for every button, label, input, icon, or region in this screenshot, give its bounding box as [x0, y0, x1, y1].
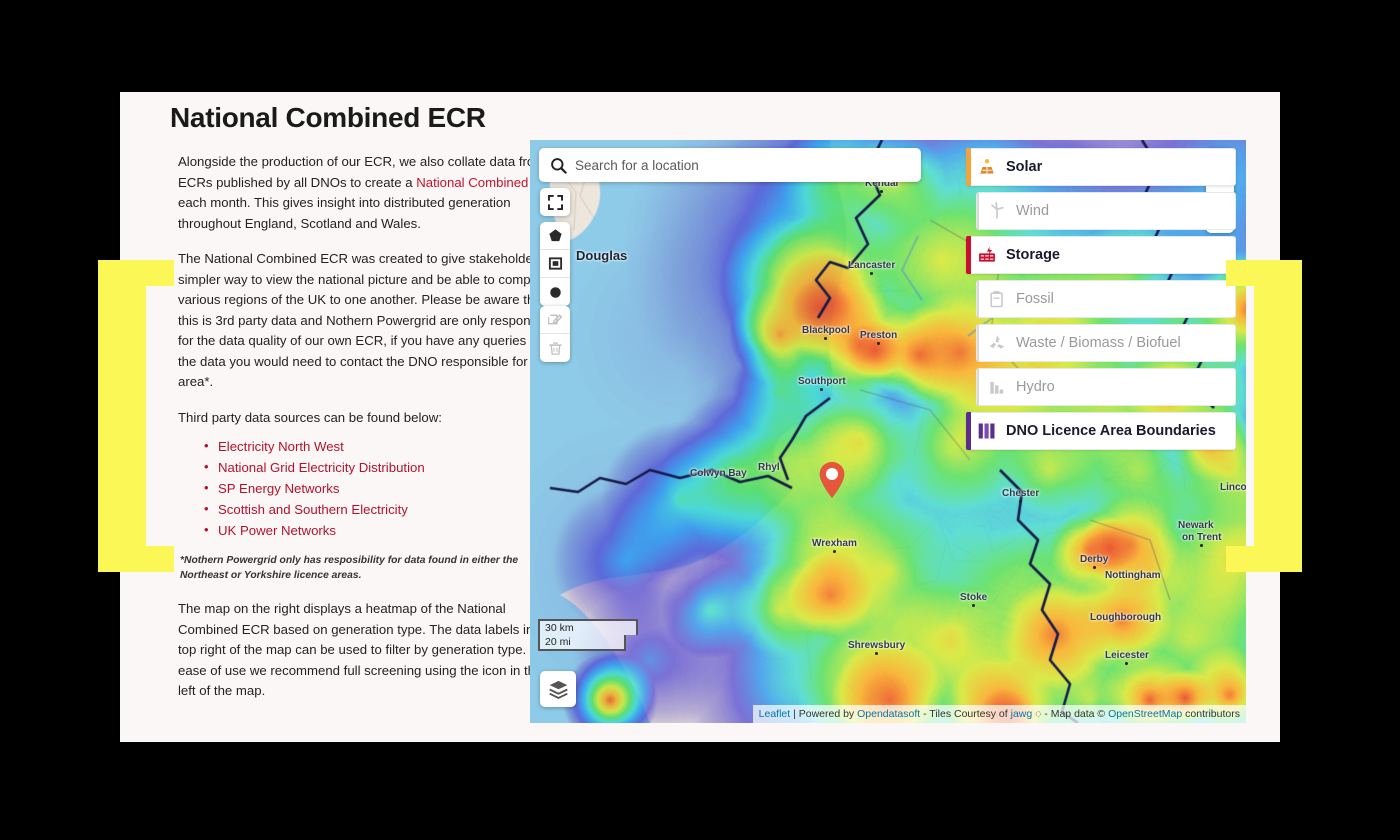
delete-shapes-button[interactable] — [540, 334, 570, 362]
footnote: *Nothern Powergrid only has resposibilit… — [180, 553, 568, 583]
legend-item-color-bar — [966, 412, 971, 450]
boundaries-icon — [977, 421, 997, 441]
hydro-icon — [987, 377, 1007, 397]
legend-item-color-bar — [966, 148, 971, 186]
wind-turbine-icon — [987, 201, 1007, 221]
edit-tools-control[interactable] — [540, 306, 570, 362]
legend-item-label: Fossil — [1016, 291, 1054, 307]
scale-imperial: 20 mi — [538, 635, 626, 651]
attribution-leaflet-link[interactable]: Leaflet — [759, 708, 791, 720]
draw-rectangle-icon — [548, 256, 563, 271]
legend-item-color-bar — [977, 324, 979, 362]
fullscreen-icon — [548, 195, 563, 210]
article-column: National Combined ECR Alongside the prod… — [168, 102, 568, 717]
legend-item-label: Solar — [1006, 159, 1042, 175]
legend-item-fossil[interactable]: Fossil — [976, 280, 1236, 318]
page-title: National Combined ECR — [170, 102, 568, 134]
delete-shapes-icon — [548, 341, 563, 356]
source-link-scottish-and-southern-electricity[interactable]: Scottish and Southern Electricity — [204, 500, 568, 520]
fullscreen-button[interactable] — [540, 188, 570, 216]
content-card: National Combined ECR Alongside the prod… — [120, 92, 1280, 742]
legend-item-hydro[interactable]: Hydro — [976, 368, 1236, 406]
attribution-openstreetmap-link[interactable]: OpenStreetMap — [1108, 708, 1182, 720]
layers-button[interactable] — [540, 671, 576, 707]
scale-metric: 30 km — [538, 619, 638, 635]
left-bracket-top-arm — [98, 260, 174, 286]
attribution-mapdata-text: - Map data © — [1041, 708, 1108, 720]
wind-turbine-icon — [987, 201, 1007, 221]
map-attribution: Leaflet | Powered by Opendatasoft - Tile… — [753, 705, 1246, 723]
attribution-opendatasoft-link[interactable]: Opendatasoft — [857, 708, 920, 720]
search-input[interactable] — [575, 158, 911, 173]
paragraph-1: Alongside the production of our ECR, we … — [178, 152, 568, 234]
draw-circle-button[interactable] — [540, 278, 570, 306]
draw-polygon-icon — [548, 228, 563, 243]
draw-circle-icon — [548, 285, 563, 300]
legend-item-label: Waste / Biomass / Biofuel — [1016, 335, 1181, 351]
legend-item-storage[interactable]: Storage — [966, 236, 1236, 274]
heatmap-map[interactable]: DouglasKendalLancasterBlackpoolPrestonSo… — [530, 140, 1246, 723]
fullscreen-control[interactable] — [540, 188, 570, 216]
article-body: Alongside the production of our ECR, we … — [168, 152, 568, 702]
paragraph-4: The map on the right displays a heatmap … — [178, 599, 568, 702]
right-bracket-bottom-arm — [1226, 546, 1302, 572]
legend-item-dno-licence-area-boundaries[interactable]: DNO Licence Area Boundaries — [966, 412, 1236, 450]
paragraph-3: Third party data sources can be found be… — [178, 408, 568, 429]
legend-item-solar[interactable]: Solar — [966, 148, 1236, 186]
legend-item-color-bar — [977, 280, 979, 318]
left-bracket-bottom-arm — [98, 546, 174, 572]
left-bracket-decoration — [98, 260, 146, 572]
boundaries-icon — [977, 421, 997, 441]
location-search-box[interactable] — [539, 148, 921, 182]
right-bracket-top-arm — [1226, 260, 1302, 286]
legend-item-color-bar — [966, 236, 971, 274]
attribution-sep-1: | — [790, 708, 799, 720]
source-link-electricity-north-west[interactable]: Electricity North West — [204, 437, 568, 457]
third-party-sources-list: Electricity North West National Grid Ele… — [204, 437, 568, 541]
solar-panel-icon — [977, 157, 997, 177]
attribution-contributors-text: contributors — [1182, 708, 1240, 720]
paragraph-1-part-b: each month. This gives insight into dist… — [178, 195, 511, 231]
draw-polygon-button[interactable] — [540, 222, 570, 250]
layers-icon — [547, 678, 570, 701]
source-link-sp-energy-networks[interactable]: SP Energy Networks — [204, 479, 568, 499]
attribution-jawg-glyph: ◌ — [1032, 708, 1041, 720]
legend-item-label: Hydro — [1016, 379, 1055, 395]
legend-item-label: Storage — [1006, 247, 1060, 263]
attribution-jawg-link[interactable]: jawg — [1011, 708, 1033, 720]
layer-legend-panel[interactable]: SolarWindStorageFossilWaste / Biomass / … — [966, 148, 1236, 456]
right-bracket-decoration — [1254, 260, 1302, 572]
battery-storage-icon — [977, 245, 997, 265]
edit-shapes-button[interactable] — [540, 306, 570, 334]
fossil-fuel-icon — [987, 289, 1007, 309]
legend-item-wind[interactable]: Wind — [976, 192, 1236, 230]
legend-item-waste-biomass-biofuel[interactable]: Waste / Biomass / Biofuel — [976, 324, 1236, 362]
battery-storage-icon — [977, 245, 997, 265]
hydro-icon — [987, 377, 1007, 397]
attribution-powered-by: Powered by — [799, 708, 857, 720]
screenshot-stage: National Combined ECR Alongside the prod… — [0, 0, 1400, 840]
legend-item-color-bar — [977, 368, 979, 406]
source-link-uk-power-networks[interactable]: UK Power Networks — [204, 521, 568, 541]
location-marker-pin[interactable] — [819, 462, 845, 498]
paragraph-2: The National Combined ECR was created to… — [178, 249, 568, 393]
scale-bar: 30 km 20 mi — [538, 619, 638, 651]
legend-item-label: Wind — [1016, 203, 1049, 219]
source-link-national-grid-electricity-distribution[interactable]: National Grid Electricity Distribution — [204, 458, 568, 478]
edit-shapes-icon — [548, 312, 563, 327]
recycle-icon — [987, 333, 1007, 353]
draw-tools-control[interactable] — [540, 222, 570, 306]
legend-item-color-bar — [977, 192, 979, 230]
solar-panel-icon — [977, 157, 997, 177]
draw-rectangle-button[interactable] — [540, 250, 570, 278]
attribution-tiles-text: - Tiles Courtesy of — [920, 708, 1010, 720]
legend-item-label: DNO Licence Area Boundaries — [1006, 423, 1216, 439]
search-icon — [549, 156, 568, 175]
recycle-icon — [987, 333, 1007, 353]
fossil-fuel-icon — [987, 289, 1007, 309]
